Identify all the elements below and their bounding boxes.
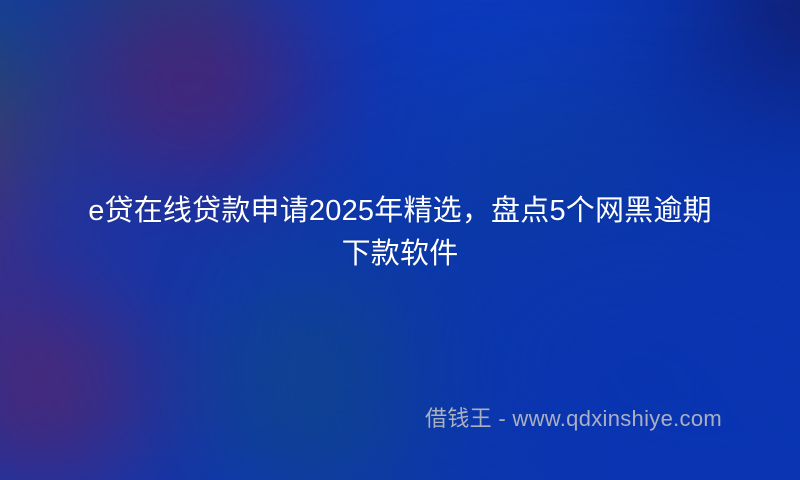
site-watermark: 借钱王 - www.qdxinshiye.com bbox=[425, 405, 722, 433]
bg-blob-blue-bottom-right bbox=[519, 278, 800, 480]
bg-blob-green-bottom-center bbox=[204, 258, 492, 480]
promo-banner: e贷在线贷款申请2025年精选，盘点5个网黑逾期 下款软件 借钱王 - www.… bbox=[0, 0, 800, 480]
page-title: e贷在线贷款申请2025年精选，盘点5个网黑逾期 下款软件 bbox=[0, 190, 800, 276]
bg-blob-crimson-bottom-left bbox=[0, 269, 174, 480]
